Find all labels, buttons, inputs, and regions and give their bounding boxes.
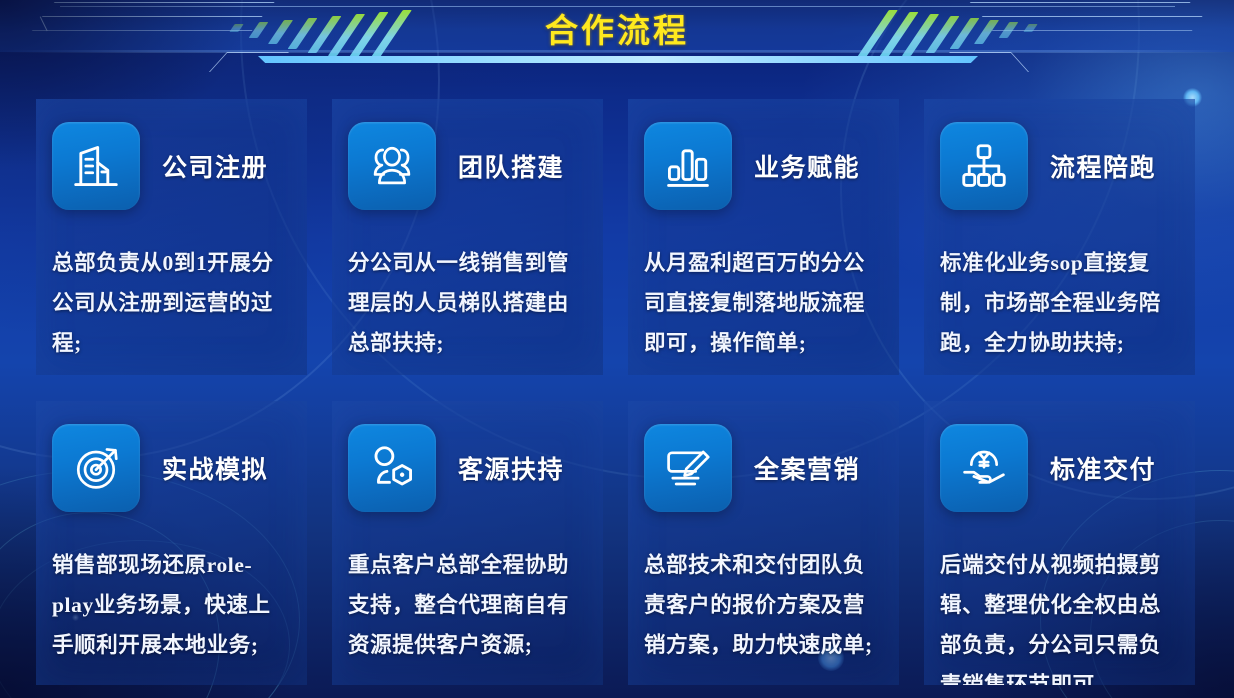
process-card[interactable]: 标准交付 后端交付从视频拍摄剪辑、整理优化全权由总部负责，分公司只需负责销售环节… bbox=[924, 401, 1195, 685]
slide-stage: 合作流程 公司注册 总部负责从0到1开展分公司从注册到运营的过程; bbox=[0, 0, 1234, 698]
card-title: 实战模拟 bbox=[162, 450, 268, 486]
bar-chart-icon bbox=[644, 122, 732, 210]
card-header: 客源扶持 bbox=[348, 420, 584, 516]
hand-yuan-icon bbox=[940, 424, 1028, 512]
card-header: 业务赋能 bbox=[644, 118, 880, 214]
card-description: 分公司从一线销售到管理层的人员梯队搭建由总部扶持; bbox=[348, 243, 584, 363]
card-header: 流程陪跑 bbox=[940, 118, 1176, 214]
card-title: 客源扶持 bbox=[458, 450, 564, 486]
process-card[interactable]: 团队搭建 分公司从一线销售到管理层的人员梯队搭建由总部扶持; bbox=[332, 99, 603, 375]
process-card[interactable]: 业务赋能 从月盈利超百万的分公司直接复制落地版流程即可，操作简单; bbox=[628, 99, 899, 375]
card-header: 标准交付 bbox=[940, 420, 1176, 516]
card-description: 标准化业务sop直接复制，市场部全程业务陪跑，全力协助扶持; bbox=[940, 243, 1176, 363]
card-title: 业务赋能 bbox=[754, 148, 860, 184]
card-description: 总部技术和交付团队负责客户的报价方案及营销方案，助力快速成单; bbox=[644, 545, 880, 665]
card-header: 全案营销 bbox=[644, 420, 880, 516]
card-title: 团队搭建 bbox=[458, 148, 564, 184]
card-title: 标准交付 bbox=[1050, 450, 1156, 486]
process-card[interactable]: 实战模拟 销售部现场还原role-play业务场景，快速上手顺利开展本地业务; bbox=[36, 401, 307, 685]
team-group-icon bbox=[348, 122, 436, 210]
card-header: 实战模拟 bbox=[52, 420, 288, 516]
card-description: 销售部现场还原role-play业务场景，快速上手顺利开展本地业务; bbox=[52, 545, 288, 665]
pen-edit-icon bbox=[644, 424, 732, 512]
org-chart-icon bbox=[940, 122, 1028, 210]
card-header: 团队搭建 bbox=[348, 118, 584, 214]
card-title: 流程陪跑 bbox=[1050, 148, 1156, 184]
process-card[interactable]: 全案营销 总部技术和交付团队负责客户的报价方案及营销方案，助力快速成单; bbox=[628, 401, 899, 685]
card-description: 重点客户总部全程协助支持，整合代理商自有资源提供客户资源; bbox=[348, 545, 584, 665]
process-card[interactable]: 客源扶持 重点客户总部全程协助支持，整合代理商自有资源提供客户资源; bbox=[332, 401, 603, 685]
card-title: 公司注册 bbox=[162, 148, 268, 184]
process-card-grid: 公司注册 总部负责从0到1开展分公司从注册到运营的过程; 团队搭建 分公司从一线… bbox=[36, 99, 1202, 685]
building-icon bbox=[52, 122, 140, 210]
target-dart-icon bbox=[52, 424, 140, 512]
process-card[interactable]: 公司注册 总部负责从0到1开展分公司从注册到运营的过程; bbox=[36, 99, 307, 375]
card-description: 后端交付从视频拍摄剪辑、整理优化全权由总部负责，分公司只需负责销售环节即可。 bbox=[940, 545, 1176, 685]
customer-support-icon bbox=[348, 424, 436, 512]
card-header: 公司注册 bbox=[52, 118, 288, 214]
card-description: 从月盈利超百万的分公司直接复制落地版流程即可，操作简单; bbox=[644, 243, 880, 363]
process-card[interactable]: 流程陪跑 标准化业务sop直接复制，市场部全程业务陪跑，全力协助扶持; bbox=[924, 99, 1195, 375]
card-description: 总部负责从0到1开展分公司从注册到运营的过程; bbox=[52, 243, 288, 363]
card-title: 全案营销 bbox=[754, 450, 860, 486]
